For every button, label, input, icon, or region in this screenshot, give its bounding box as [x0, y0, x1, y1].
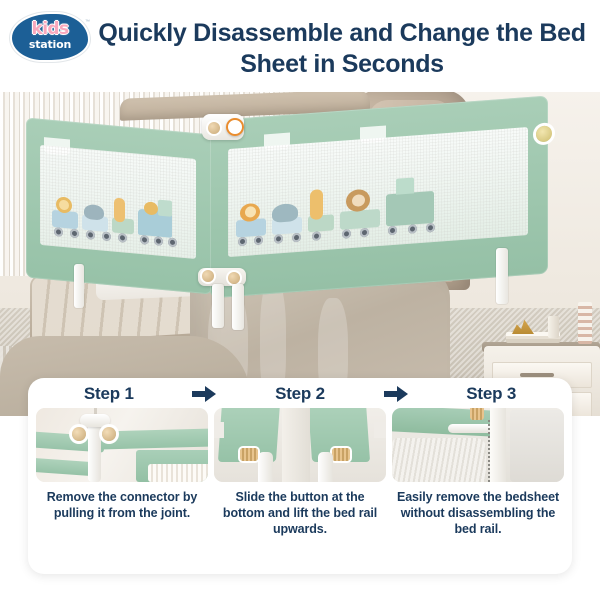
step-label-3: Step 3	[410, 384, 572, 404]
rail-screw	[208, 122, 220, 134]
trademark-icon: ™	[85, 19, 90, 25]
step-thumbnail-3	[392, 408, 564, 482]
step-panel-2: Slide the button at the bottom and lift …	[214, 408, 386, 574]
step-caption-3: Easily remove the bedsheet without disas…	[392, 489, 564, 537]
rail-support-leg	[74, 264, 84, 308]
step-thumbnail-1	[36, 408, 208, 482]
steps-header-row: Step 1 Step 2 Step 3	[28, 378, 572, 410]
decor-striped-vase	[578, 302, 592, 344]
logo-text-station: station	[12, 39, 88, 50]
brand-logo: kids station ™	[12, 14, 88, 60]
rail-support-leg	[212, 284, 224, 328]
bed-rail-left-section	[26, 118, 212, 295]
step-caption-2: Slide the button at the bottom and lift …	[214, 489, 386, 537]
steps-panels: Remove the connector by pulling it from …	[28, 408, 572, 574]
step-thumbnail-2	[214, 408, 386, 482]
nightstand-handle-upper	[520, 373, 554, 377]
logo-text-kids: kids	[12, 21, 88, 38]
rail-mesh-right	[228, 127, 528, 257]
step-panel-1: Remove the connector by pulling it from …	[36, 408, 208, 574]
rail-support-leg	[232, 284, 244, 330]
rail-screw	[228, 272, 240, 284]
steps-card: Step 1 Step 2 Step 3	[28, 378, 572, 574]
step-caption-1: Remove the connector by pulling it from …	[36, 489, 208, 521]
decor-cylinder	[548, 316, 559, 338]
header: kids station ™ Quickly Disassemble and C…	[0, 0, 600, 92]
step-panel-3: Easily remove the bedsheet without disas…	[392, 408, 564, 574]
hero-product-photo	[0, 86, 600, 416]
rail-mesh-left	[40, 145, 196, 259]
arrow-right-icon	[381, 386, 411, 402]
bed-rail-product	[26, 108, 546, 308]
rail-screw	[202, 270, 214, 282]
arrow-right-icon	[190, 386, 220, 402]
infographic-canvas: kids station ™ Quickly Disassemble and C…	[0, 0, 600, 600]
step-label-2: Step 2	[219, 384, 381, 404]
page-title: Quickly Disassemble and Change the Bed S…	[92, 18, 592, 79]
step-label-1: Step 1	[28, 384, 190, 404]
rail-release-knob-icon	[226, 118, 244, 136]
rail-support-leg	[496, 248, 508, 304]
